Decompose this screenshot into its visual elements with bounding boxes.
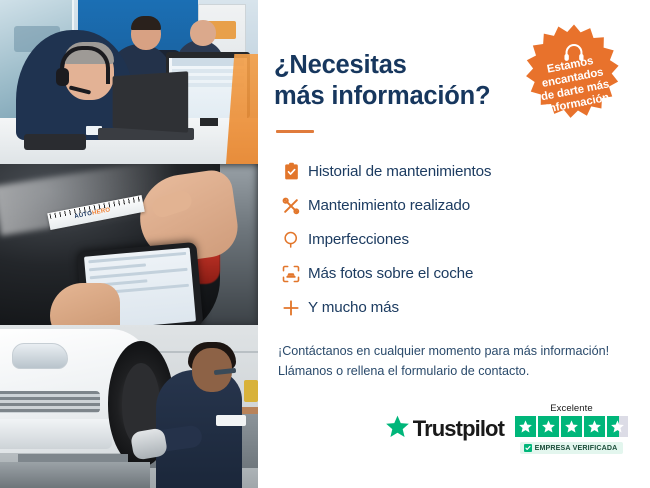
contact-line-1: ¡Contáctanos en cualquier momento para m… [278, 342, 620, 362]
feature-item-much-more: Y mucho más [274, 291, 620, 324]
headline-line-2: más información? [274, 81, 514, 112]
trustpilot-wordmark: Trustpilot [413, 416, 504, 442]
trustpilot-rating-label: Excelente [550, 403, 593, 414]
trustpilot-star-icon [385, 414, 410, 444]
plus-icon [274, 298, 308, 318]
trustpilot-widget[interactable]: Trustpilot Excelente [385, 403, 628, 454]
feature-list: Historial de mantenimientos Mantenimient… [274, 155, 620, 324]
tools-cross-icon [274, 196, 308, 216]
photo-call-center-art [0, 0, 258, 164]
content-panel: ¿Necesitas más información? Historial de… [258, 0, 650, 488]
page-title: ¿Necesitas más información? [274, 50, 514, 112]
photo-vehicle-inspection-art: AUTOHERO [0, 164, 258, 325]
trustpilot-brand: Trustpilot [385, 414, 504, 444]
feature-item-maintenance-done: Mantenimiento realizado [274, 189, 620, 222]
clipboard-check-icon [274, 162, 308, 181]
verified-business-badge: EMPRESA VERIFICADA [520, 442, 624, 454]
verified-check-icon [524, 444, 532, 452]
verified-business-label: EMPRESA VERIFICADA [535, 444, 618, 452]
photo-mechanic-wheel [0, 325, 258, 488]
trustpilot-star-1 [515, 416, 536, 437]
promo-banner: AUTOHERO [0, 0, 650, 488]
feature-label: Más fotos sobre el coche [308, 265, 473, 282]
feature-label: Mantenimiento realizado [308, 197, 470, 214]
contact-line-2: Llámanos o rellena el formulario de cont… [278, 362, 620, 382]
trustpilot-rating: Excelente [515, 403, 628, 454]
headset-icon [563, 42, 586, 63]
photo-call-center [0, 0, 258, 164]
contact-text: ¡Contáctanos en cualquier momento para m… [278, 342, 620, 381]
trustpilot-star-2 [538, 416, 559, 437]
feature-label: Imperfecciones [308, 231, 409, 248]
feature-label: Y mucho más [308, 299, 399, 316]
feature-item-more-photos: Más fotos sobre el coche [274, 257, 620, 290]
trustpilot-stars [515, 416, 628, 437]
magnifier-icon [274, 230, 308, 249]
info-badge: Estamos encantados de darte más informac… [511, 22, 637, 148]
trustpilot-star-4 [584, 416, 605, 437]
car-frame-icon [274, 264, 308, 284]
headline-divider [276, 130, 314, 133]
trustpilot-star-3 [561, 416, 582, 437]
trustpilot-star-5 [607, 416, 628, 437]
feature-item-maintenance-history: Historial de mantenimientos [274, 155, 620, 188]
photo-vehicle-inspection: AUTOHERO [0, 164, 258, 325]
feature-label: Historial de mantenimientos [308, 163, 491, 180]
feature-item-imperfections: Imperfecciones [274, 223, 620, 256]
photo-mechanic-wheel-art [0, 325, 258, 488]
headline-line-1: ¿Necesitas [274, 50, 514, 81]
photo-collage: AUTOHERO [0, 0, 258, 488]
